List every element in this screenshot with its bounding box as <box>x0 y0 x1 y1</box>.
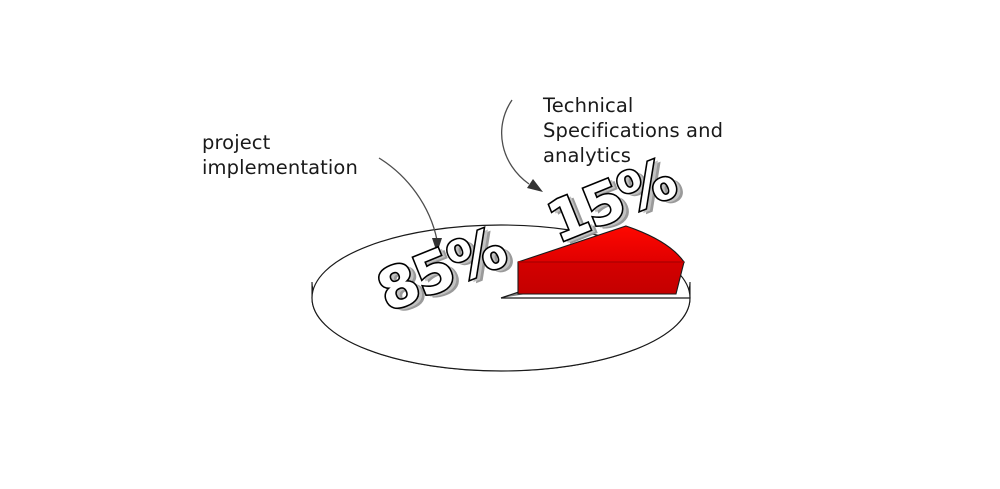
callout-label-technical-specifications: Technical Specifications and analytics <box>543 93 743 168</box>
callout-label-project-implementation: project implementation <box>202 130 382 180</box>
callout-arrow-right-line <box>502 100 529 184</box>
callout-arrow-right <box>502 100 543 192</box>
callout-arrow-left-line <box>379 158 437 240</box>
pie-chart-graphic: 85% 85% 85% 15% 15% 15% <box>0 0 1000 489</box>
pie-slice-minor-side <box>518 262 684 294</box>
callout-arrow-right-head <box>527 179 543 192</box>
chart-canvas: 85% 85% 85% 15% 15% 15% project implemen… <box>0 0 1000 489</box>
